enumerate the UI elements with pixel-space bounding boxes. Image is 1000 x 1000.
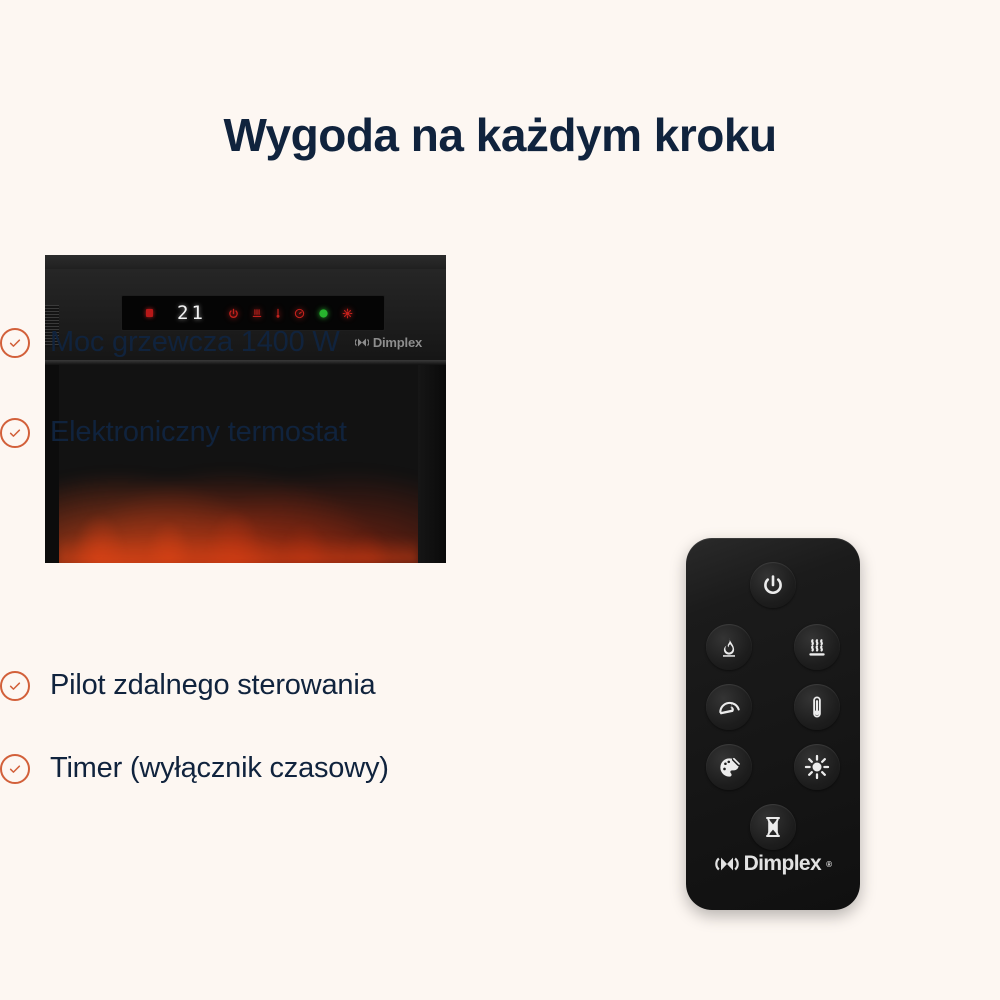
brightness-button[interactable] <box>794 744 840 790</box>
fireplace-right-edge <box>418 365 446 563</box>
check-circle-icon <box>0 328 30 358</box>
remote-brand-logo: Dimplex® <box>686 852 860 876</box>
feature-label: Elektroniczny termostat <box>50 416 347 449</box>
hourglass-icon <box>761 815 785 839</box>
flame-speed-dial-icon <box>717 695 742 720</box>
timer-button[interactable] <box>750 804 796 850</box>
heat-button[interactable] <box>794 624 840 670</box>
fireplace-firebox <box>59 365 418 563</box>
flame-speed-button[interactable] <box>706 684 752 730</box>
heat-waves-icon <box>805 635 829 659</box>
flame-icon <box>717 635 741 659</box>
feature-item-thermostat: Elektroniczny termostat <box>0 416 347 449</box>
heater-icon[interactable] <box>252 308 262 319</box>
flame-speed-icon[interactable] <box>294 308 305 319</box>
power-button[interactable] <box>750 562 796 608</box>
check-circle-icon <box>0 418 30 448</box>
flame-button[interactable] <box>706 624 752 670</box>
fireplace-product-image: 21 <box>45 255 446 563</box>
feature-label: Timer (wyłącznik czasowy) <box>50 752 389 785</box>
page-title: Wygoda na każdym kroku <box>0 108 1000 162</box>
feature-item-remote-control: Pilot zdalnego sterowania <box>0 669 375 702</box>
remote-brand-name: Dimplex <box>744 852 822 876</box>
thermometer-icon[interactable] <box>275 308 281 319</box>
power-icon[interactable] <box>228 308 239 319</box>
check-circle-icon <box>0 754 30 784</box>
dimplex-mark-icon <box>355 337 369 348</box>
dimplex-mark-icon <box>715 855 739 873</box>
flame-color-button[interactable] <box>706 744 752 790</box>
color-palette-icon <box>717 755 742 780</box>
fireplace-brand-logo: Dimplex <box>355 335 422 350</box>
remote-control-image: Dimplex® <box>686 538 860 910</box>
trademark-symbol: ® <box>826 860 831 869</box>
power-icon <box>761 573 785 597</box>
feature-item-heating-power: Moc grzewcza 1400 W <box>0 326 340 359</box>
panel-temperature-display: 21 <box>177 302 206 324</box>
thermometer-icon <box>805 695 829 719</box>
sun-icon <box>804 754 830 780</box>
fireplace-top-rail <box>45 255 446 269</box>
feature-item-timer: Timer (wyłącznik czasowy) <box>0 752 389 785</box>
feature-label: Pilot zdalnego sterowania <box>50 669 375 702</box>
thermostat-button[interactable] <box>794 684 840 730</box>
check-circle-icon <box>0 671 30 701</box>
fireplace-ember-bed <box>59 537 418 563</box>
fireplace-brand-name: Dimplex <box>373 335 422 350</box>
brightness-icon[interactable] <box>342 308 353 319</box>
flame-color-icon[interactable] <box>318 308 329 319</box>
feature-label: Moc grzewcza 1400 W <box>50 326 340 359</box>
panel-standby-indicator <box>146 309 153 317</box>
panel-icon-row <box>228 308 353 319</box>
